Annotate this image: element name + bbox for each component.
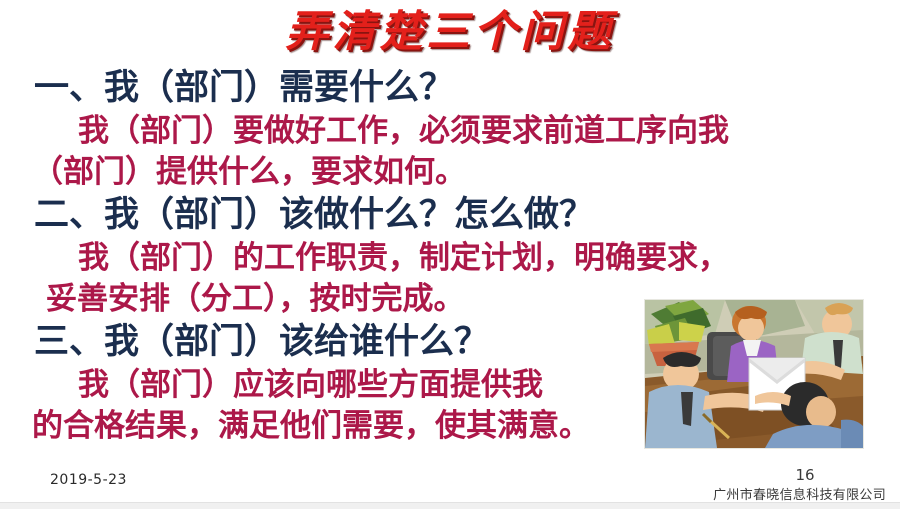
question-heading-1: 一、我（部门）需要什么？	[0, 66, 900, 111]
slide-title: 弄清楚三个问题	[0, 8, 900, 57]
question-body-1-line-2: （部门）提供什么，要求如何。	[0, 152, 900, 193]
page-number: 16	[355, 466, 900, 484]
question-body-2-line-1: 我（部门）的工作职责，制定计划，明确要求，	[0, 238, 900, 279]
footer-date: 2019-5-23	[50, 472, 127, 488]
question-block-1: 一、我（部门）需要什么？ 我（部门）要做好工作，必须要求前道工序向我 （部门）提…	[0, 66, 900, 193]
business-meeting-clipart-icon	[645, 300, 863, 448]
question-body-1-line-1: 我（部门）要做好工作，必须要求前道工序向我	[0, 111, 900, 152]
bottom-divider	[0, 502, 900, 509]
presentation-slide: 弄清楚三个问题 一、我（部门）需要什么？ 我（部门）要做好工作，必须要求前道工序…	[0, 0, 900, 509]
question-heading-2: 二、我（部门）该做什么？怎么做？	[0, 193, 900, 238]
footer-company-name: 广州市春晓信息科技有限公司	[713, 484, 886, 503]
business-meeting-image	[645, 300, 863, 448]
